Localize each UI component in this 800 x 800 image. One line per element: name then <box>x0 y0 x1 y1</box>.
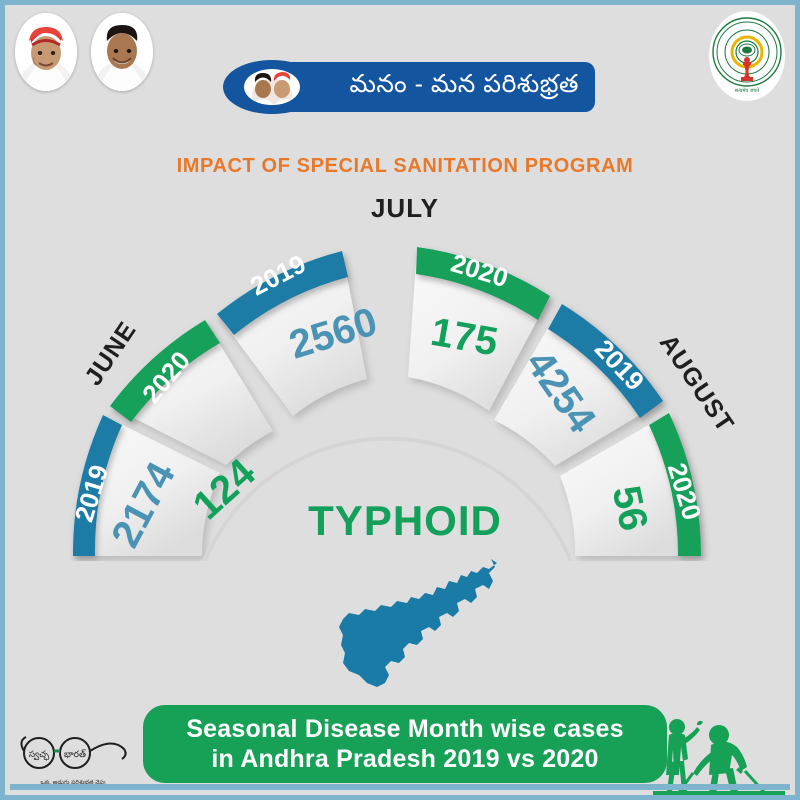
disease-label: TYPHOID <box>5 497 800 545</box>
portrait-ysr <box>15 13 77 91</box>
government-emblem: सत्यमेव जयते <box>709 11 785 101</box>
campaign-telugu-label: మనం - మన పరిశుభ్రత <box>349 70 579 105</box>
swachh-bharat-logo: స్వచ్ఛ భారత్ ఒక్క అడుగు పరిశుభ్రత వైపు <box>13 723 133 793</box>
footer-line-2: in Andhra Pradesh 2019 vs 2020 <box>211 744 598 775</box>
footer-divider <box>10 784 790 790</box>
page-title: IMPACT OF SPECIAL SANITATION PROGRAM <box>5 155 800 178</box>
svg-text:सत्यमेव जयते: सत्यमेव जयते <box>735 87 760 94</box>
infographic-poster: మనం - మన పరిశుభ్రత <box>0 0 800 800</box>
portrait-jagan <box>91 13 153 91</box>
campaign-seal-logo <box>223 60 321 114</box>
andhra-pradesh-map <box>337 553 517 693</box>
sanitation-workers-silhouette <box>653 713 785 795</box>
footer-banner: Seasonal Disease Month wise cases in And… <box>143 705 667 783</box>
svg-text:భారత్: భారత్ <box>64 749 86 760</box>
svg-text:స్వచ్ఛ: స్వచ్ఛ <box>29 750 50 761</box>
campaign-banner: మనం - మన పరిశుభ్రత <box>223 60 595 114</box>
footer-line-1: Seasonal Disease Month wise cases <box>186 714 623 745</box>
